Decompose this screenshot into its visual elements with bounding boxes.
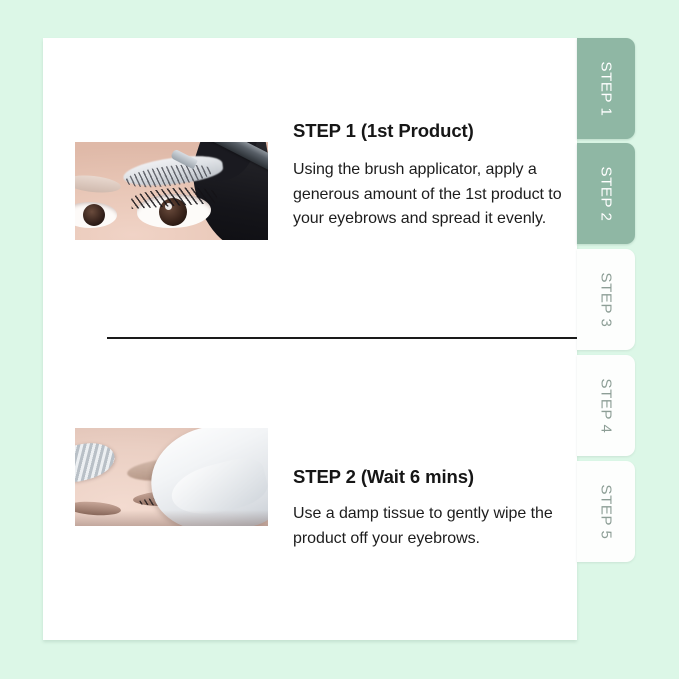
step-1-heading: STEP 1 (1st Product) bbox=[293, 120, 573, 142]
left-eye-shape bbox=[75, 202, 117, 228]
step-2-body: Use a damp tissue to gently wipe the pro… bbox=[293, 502, 573, 551]
section-divider bbox=[107, 337, 608, 339]
tab-step-5-label: STEP 5 bbox=[598, 484, 615, 539]
left-brow-shape bbox=[75, 173, 122, 195]
instructions-card: STEP 1 (1st Product) Using the brush app… bbox=[43, 38, 577, 640]
step-1-image bbox=[75, 142, 268, 240]
left-glove-shape bbox=[75, 437, 118, 487]
tab-step-4[interactable]: STEP 4 bbox=[577, 355, 635, 456]
step-1-body: Using the brush applicator, apply a gene… bbox=[293, 158, 573, 231]
tab-step-2[interactable]: STEP 2 bbox=[577, 143, 635, 244]
tab-step-3[interactable]: STEP 3 bbox=[577, 249, 635, 350]
step-2-text: STEP 2 (Wait 6 mins) Use a damp tissue t… bbox=[293, 466, 573, 551]
step-1-text: STEP 1 (1st Product) Using the brush app… bbox=[293, 120, 573, 231]
tissue-wipe-photo bbox=[75, 428, 268, 526]
eyebrow-brush-photo bbox=[75, 142, 268, 240]
tab-step-5[interactable]: STEP 5 bbox=[577, 461, 635, 562]
tab-step-1[interactable]: STEP 1 bbox=[577, 38, 635, 139]
step-2-image bbox=[75, 428, 268, 526]
step-2-heading: STEP 2 (Wait 6 mins) bbox=[293, 466, 573, 488]
tab-step-1-label: STEP 1 bbox=[598, 61, 615, 116]
tab-step-2-label: STEP 2 bbox=[598, 166, 615, 221]
step-tab-rail: STEP 1 STEP 2 STEP 3 STEP 4 STEP 5 bbox=[577, 38, 635, 557]
tab-step-4-label: STEP 4 bbox=[598, 378, 615, 433]
tab-step-3-label: STEP 3 bbox=[598, 272, 615, 327]
screenshot-stage: STEP 1 (1st Product) Using the brush app… bbox=[0, 0, 679, 679]
photo-shadow bbox=[75, 510, 268, 526]
